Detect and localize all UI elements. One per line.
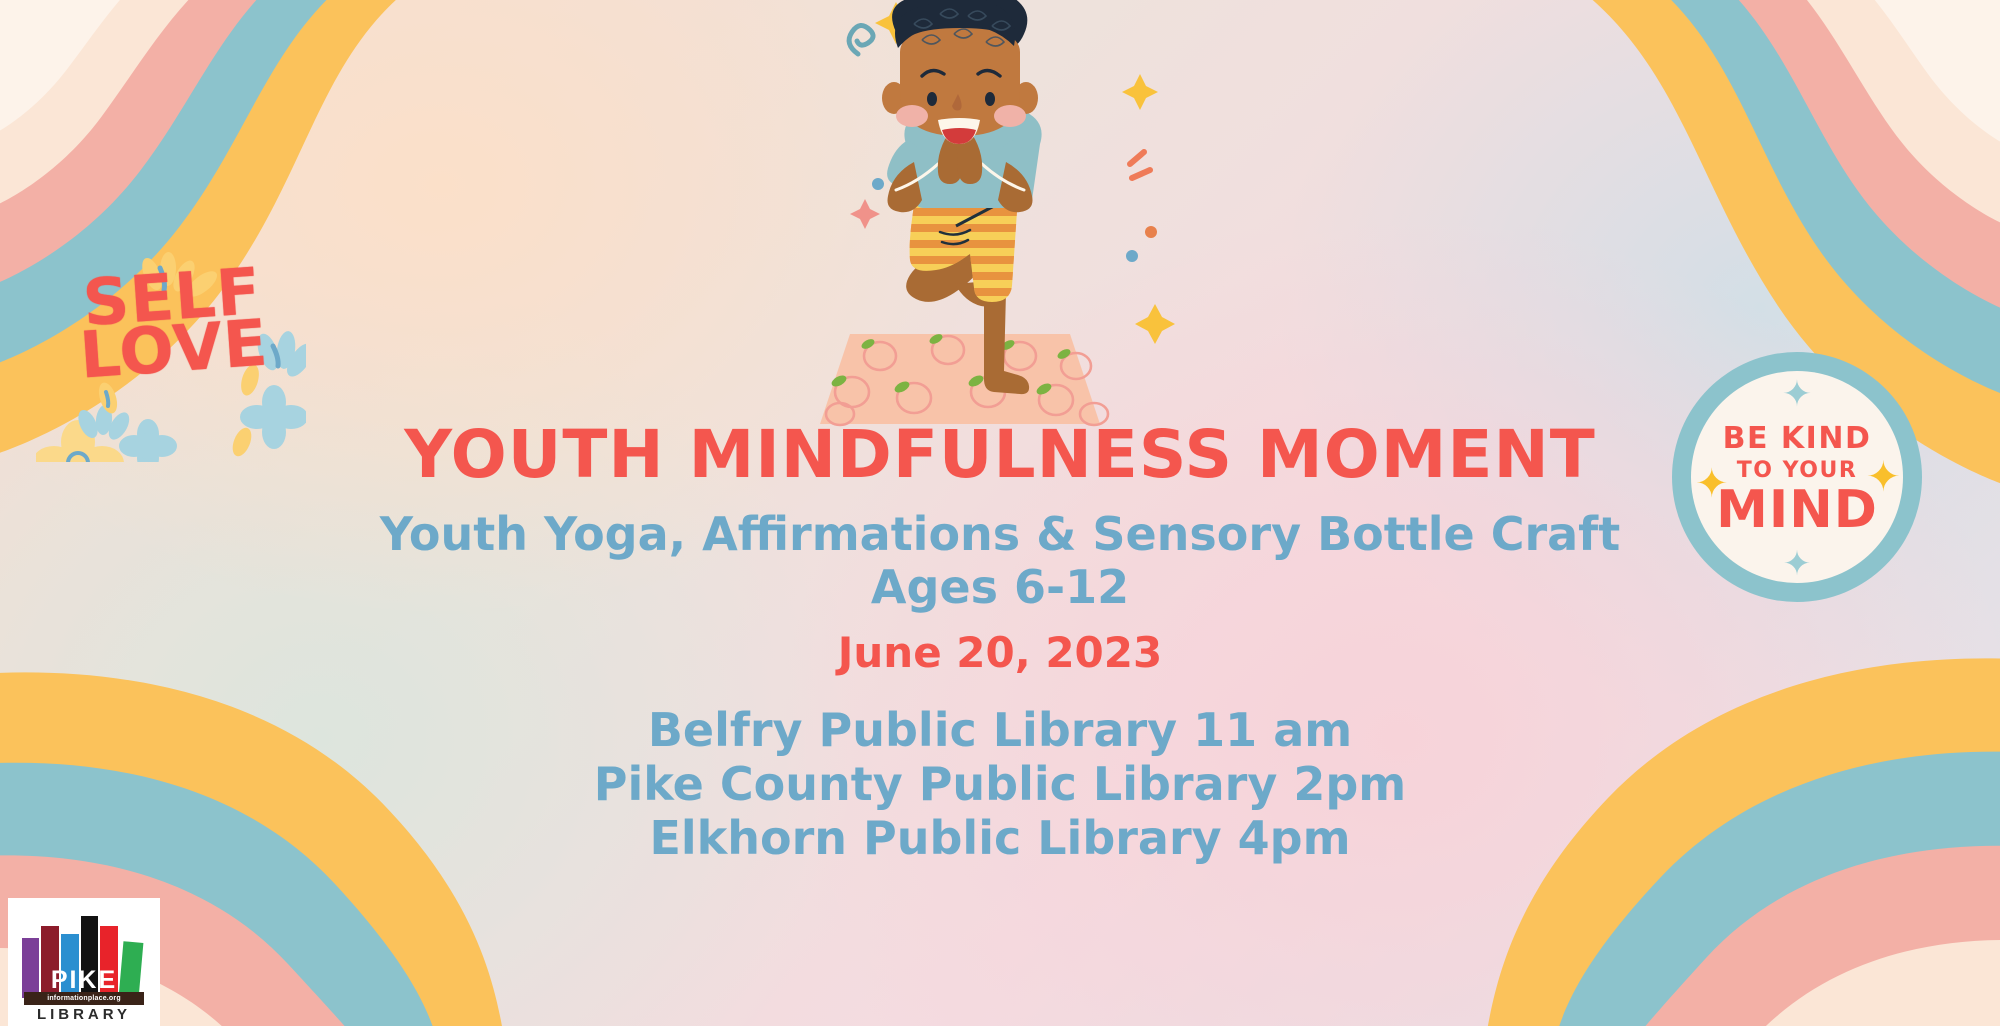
poster-date: June 20, 2023 [200,628,1800,677]
dash-icon-orange [1130,152,1150,178]
sparkle-icon-yellow-right [1122,74,1158,110]
location-line: Belfry Public Library 11 am [200,703,1800,757]
poster-canvas: SELF LOVE ✦ ✦ ✦ ✦ BE KIND TO YOUR MIND [0,0,2000,1026]
swirl-icon-teal [849,25,873,54]
yoga-kid-svg [700,0,1220,444]
pike-library-logo: PIKE informationplace.org LIBRARY [8,898,160,1026]
logo-url-bar: informationplace.org [24,992,144,1005]
poster-text-content: YOUTH MINDFULNESS MOMENT Youth Yoga, Aff… [0,420,2000,866]
blush-left [896,105,928,127]
dot-icon-blue-right [1126,250,1138,262]
self-love-text: SELF LOVE [81,266,268,383]
poster-subtitle: Youth Yoga, Affirmations & Sensory Bottl… [200,509,1800,561]
location-line: Elkhorn Public Library 4pm [200,811,1800,865]
yoga-mat [820,332,1108,425]
location-line: Pike County Public Library 2pm [200,757,1800,811]
logo-pike-word: PIKE [8,966,160,995]
self-love-line-2: LOVE [78,318,267,383]
poster-locations-list: Belfry Public Library 11 am Pike County … [200,703,1800,866]
poster-age-range: Ages 6-12 [200,561,1800,614]
child-head [882,0,1038,144]
eye-left [927,92,937,106]
page-title: YOUTH MINDFULNESS MOMENT [200,420,1800,489]
logo-library-word: LIBRARY [8,1006,160,1023]
blush-right [994,105,1026,127]
sparkle-icon-yellow-lowerright [1135,304,1175,344]
dot-icon-orange-right [1145,226,1157,238]
dot-icon-blue-left [872,178,884,190]
child-yoga-illustration [700,0,1220,444]
eye-right [985,92,995,106]
sparkle-icon-pink-left [850,199,880,229]
stem-icon-blue-2 [106,392,108,406]
logo-url-text: informationplace.org [47,995,121,1002]
sparkle-icon-top: ✦ [1782,377,1812,413]
